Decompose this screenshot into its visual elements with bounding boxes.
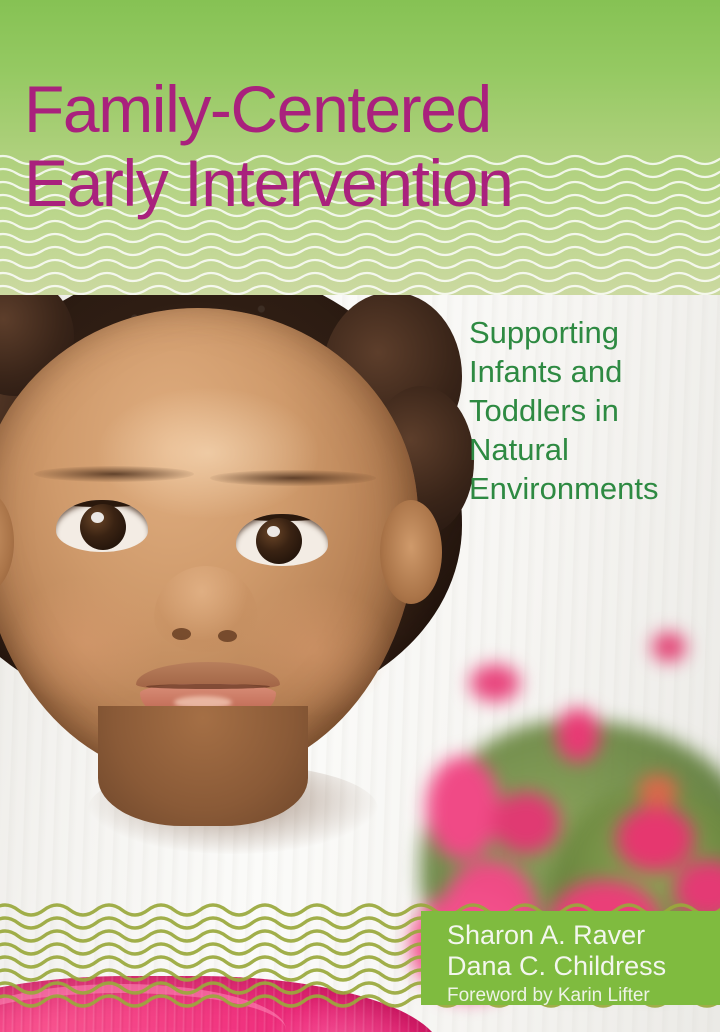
ear-right xyxy=(380,500,442,604)
flower-blossom xyxy=(652,632,686,662)
forehead-highlight xyxy=(98,388,318,518)
title-line-2: Early Intervention xyxy=(24,146,714,220)
subtitle-line-2: Infants and xyxy=(469,352,717,391)
eye-right xyxy=(236,514,328,566)
subtitle-line-4: Natural xyxy=(469,430,717,469)
nostril-left xyxy=(172,628,191,640)
subtitle-line-5: Environments xyxy=(469,469,717,508)
header-band: Family-Centered Early Intervention xyxy=(0,0,720,295)
mouth-line xyxy=(146,684,270,689)
author-name-secondary: Dana C. Childress xyxy=(447,951,720,982)
subtitle-line-1: Supporting xyxy=(469,313,717,352)
author-block: Sharon A. Raver Dana C. Childress Forewo… xyxy=(421,911,720,1005)
author-name-primary: Sharon A. Raver xyxy=(447,920,720,951)
eyebrow-right xyxy=(210,470,376,486)
eyebrow-left xyxy=(34,466,194,482)
title-line-1: Family-Centered xyxy=(24,72,714,146)
book-title: Family-Centered Early Intervention xyxy=(24,72,714,220)
iris-left xyxy=(80,504,126,550)
foreword-credit: Foreword by Karin Lifter xyxy=(447,984,720,1008)
ear-left xyxy=(0,490,14,594)
iris-right xyxy=(256,518,302,564)
subtitle-line-3: Toddlers in xyxy=(469,391,717,430)
nostril-right xyxy=(218,630,237,642)
book-subtitle: Supporting Infants and Toddlers in Natur… xyxy=(469,313,717,508)
book-cover: Family-Centered Early Intervention Suppo… xyxy=(0,0,720,1032)
neck xyxy=(98,706,308,826)
flower-blossom xyxy=(556,708,600,762)
flower-blossom xyxy=(616,806,694,872)
nose xyxy=(154,566,258,652)
eye-left xyxy=(56,500,148,552)
flower-blossom xyxy=(638,774,678,808)
